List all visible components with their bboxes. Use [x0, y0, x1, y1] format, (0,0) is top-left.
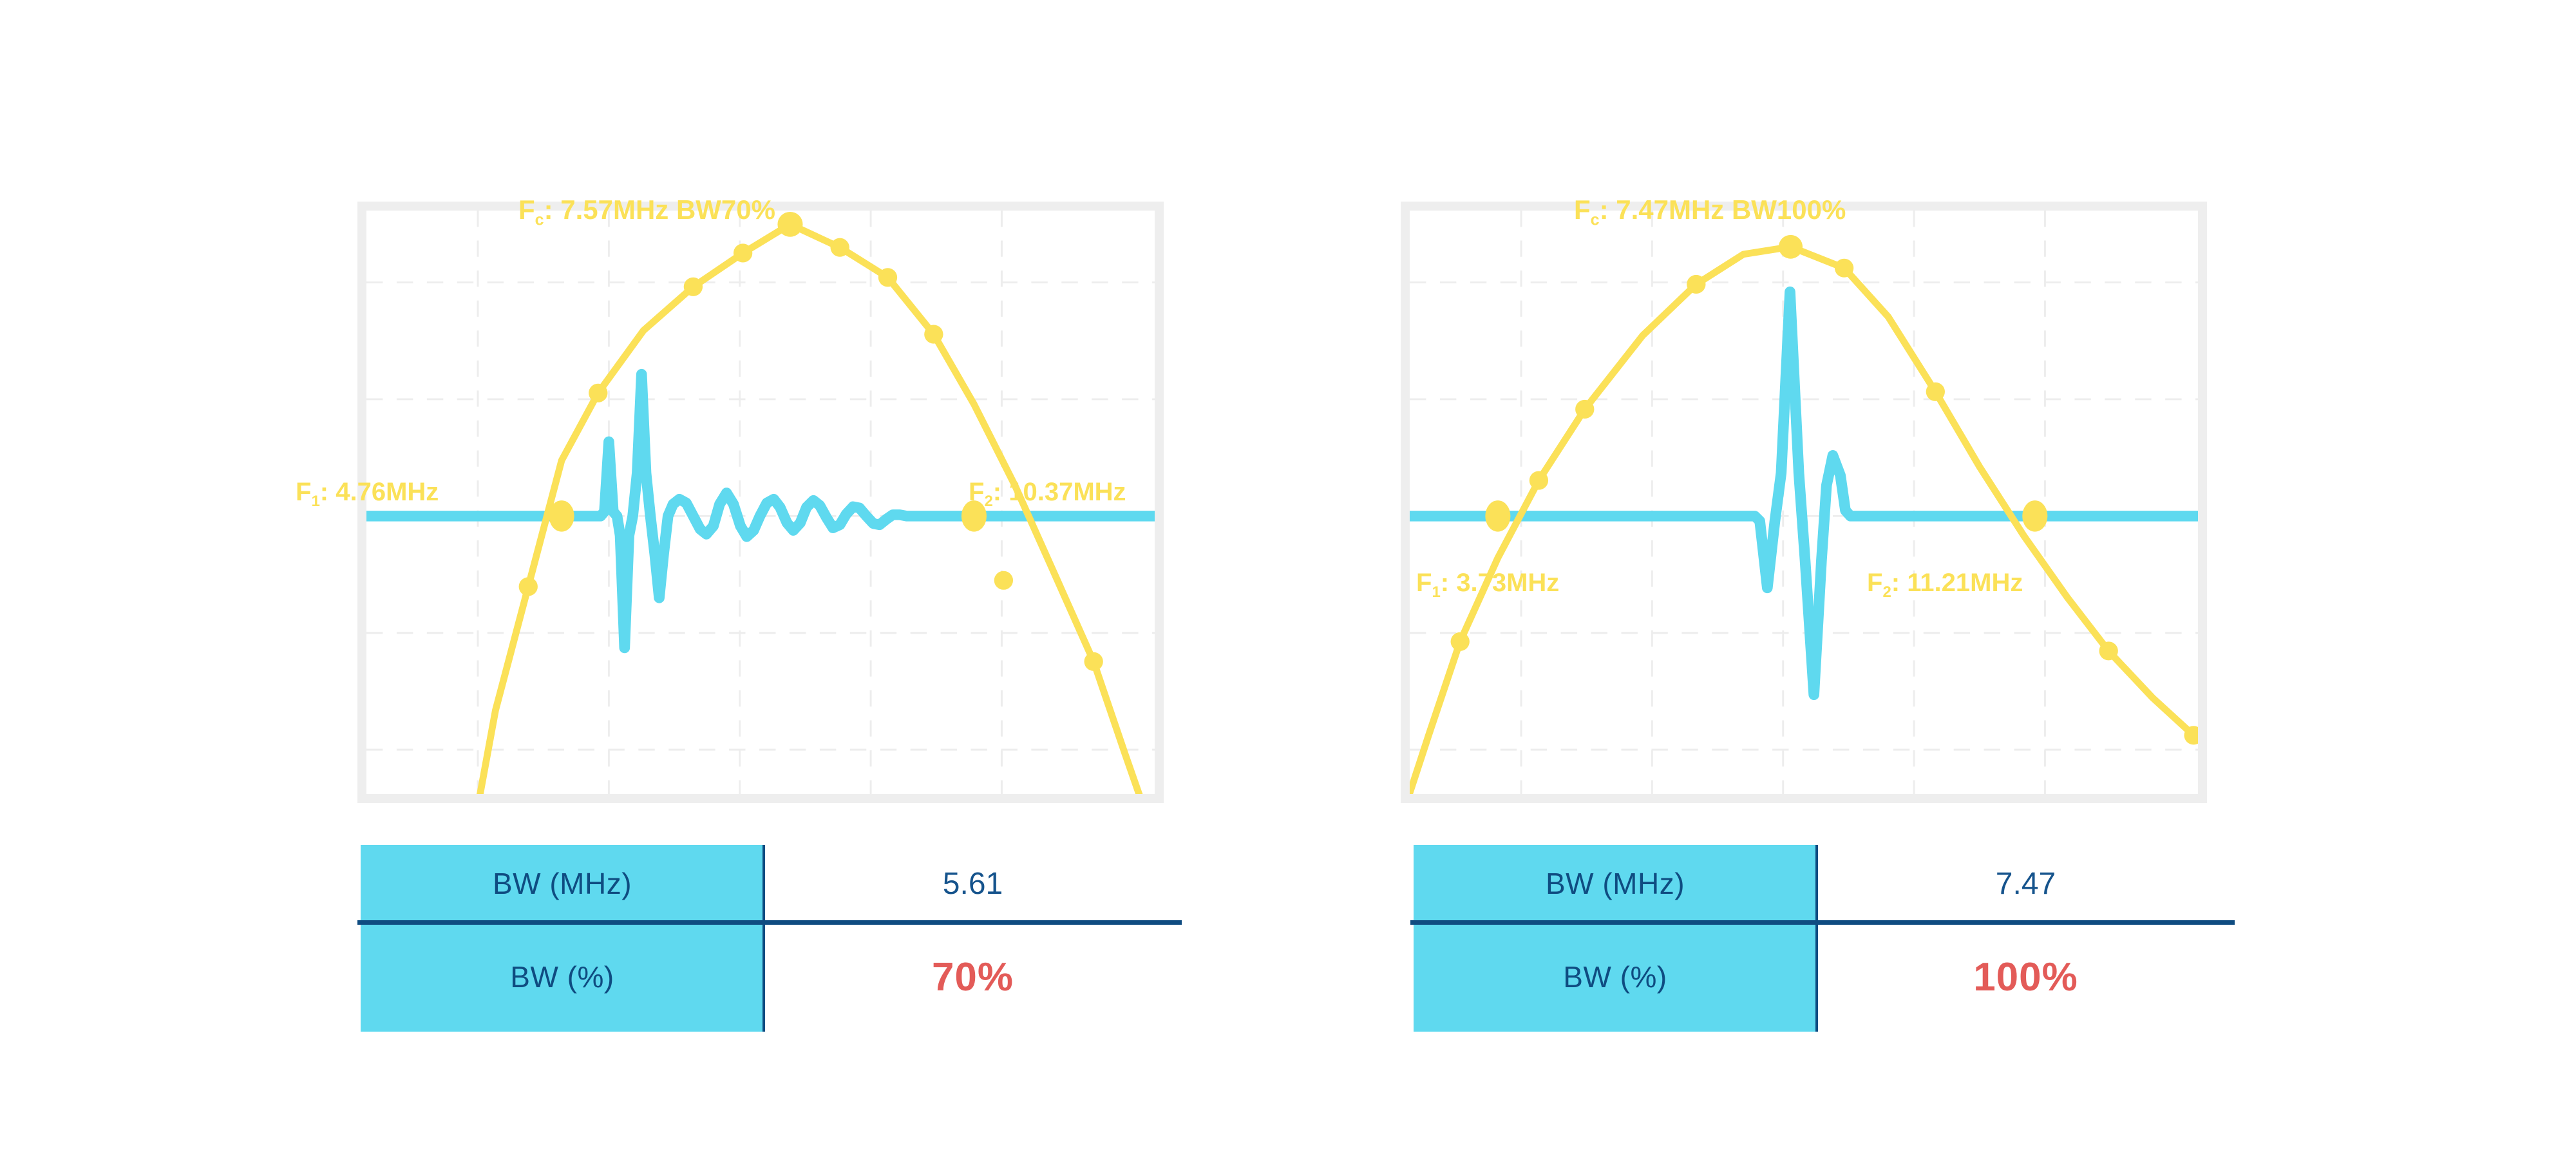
label-f2-prefix: F: [969, 478, 984, 506]
table-row: BW (%) 70%: [361, 922, 1182, 1032]
label-f2-subscript: 2: [1882, 583, 1891, 601]
bw-table-bw70: BW (MHz) 5.61 BW (%) 70%: [361, 845, 1182, 1032]
chart-bw100: [1410, 211, 2198, 794]
label-f1-prefix: F: [1416, 569, 1432, 597]
table-row: BW (%) 100%: [1414, 922, 2235, 1032]
label-f1-bw100: F1: 3.73MHz: [1416, 569, 1559, 601]
table-mid-rule-bw100: [1410, 920, 2235, 925]
table-row-label: BW (MHz): [1414, 845, 1817, 922]
chart-frame-bw100: Fc: 7.47MHz BW100% F1: 3.73MHz F2: 11.21…: [1401, 202, 2207, 803]
label-center-frequency-bw70: Fc: 7.57MHz BW70%: [518, 194, 775, 229]
table-row-value: 70%: [764, 922, 1182, 1032]
label-f1-prefix: F: [296, 478, 311, 506]
chart-frame-bw70: Fc: 7.57MHz BW70% F1: 4.76MHz F2: 10.37M…: [357, 202, 1164, 803]
table-column-divider-bw100: [1815, 845, 1818, 1032]
table-column-divider-bw70: [762, 845, 765, 1032]
label-center-subscript: c: [1591, 211, 1600, 229]
label-f2-bw70: F2: 10.37MHz: [969, 478, 1126, 511]
label-center-frequency-bw100: Fc: 7.47MHz BW100%: [1574, 194, 1846, 229]
table-row-value: 7.47: [1817, 845, 2235, 922]
table-row-value: 5.61: [764, 845, 1182, 922]
label-f1-text: : 3.73MHz: [1441, 569, 1560, 597]
label-f2-text: : 11.21MHz: [1891, 569, 2023, 597]
label-center-text: : 7.57MHz BW70%: [544, 194, 775, 225]
table-row-label: BW (%): [361, 922, 764, 1032]
label-center-subscript: c: [535, 211, 544, 229]
label-f1-subscript: 1: [1432, 583, 1440, 601]
label-center-prefix: F: [1574, 194, 1591, 225]
label-f1-text: : 4.76MHz: [320, 478, 439, 506]
label-f2-text: : 10.37MHz: [993, 478, 1126, 506]
f2-marker-bw100: [2022, 500, 2047, 532]
f2-lower-marker-bw70: [994, 571, 1013, 590]
panel-bw70: Fc: 7.57MHz BW70% F1: 4.76MHz F2: 10.37M…: [0, 0, 1288, 1154]
panel-bw100: Fc: 7.47MHz BW100% F1: 3.73MHz F2: 11.21…: [1288, 0, 2576, 1154]
label-f2-prefix: F: [1867, 569, 1882, 597]
table-row: BW (MHz) 7.47: [1414, 845, 2235, 922]
table-mid-rule-bw70: [357, 920, 1182, 925]
bw-table-bw100: BW (MHz) 7.47 BW (%) 100%: [1414, 845, 2235, 1032]
f1-marker-bw100: [1485, 500, 1510, 532]
label-f2-bw100: F2: 11.21MHz: [1867, 569, 2023, 601]
label-f1-bw70: F1: 4.76MHz: [296, 478, 439, 511]
pulse-trace-bw70: [366, 374, 1155, 648]
label-center-prefix: F: [518, 194, 535, 225]
label-center-text: : 7.47MHz BW100%: [1600, 194, 1846, 225]
table-row-value: 100%: [1817, 922, 2235, 1032]
label-f2-subscript: 2: [984, 493, 992, 510]
table-row-label: BW (%): [1414, 922, 1817, 1032]
pulse-trace-bw100: [1410, 292, 2198, 695]
f1-marker-bw70: [549, 500, 574, 532]
table-row-label: BW (MHz): [361, 845, 764, 922]
label-f1-subscript: 1: [311, 493, 319, 510]
table-row: BW (MHz) 5.61: [361, 845, 1182, 922]
